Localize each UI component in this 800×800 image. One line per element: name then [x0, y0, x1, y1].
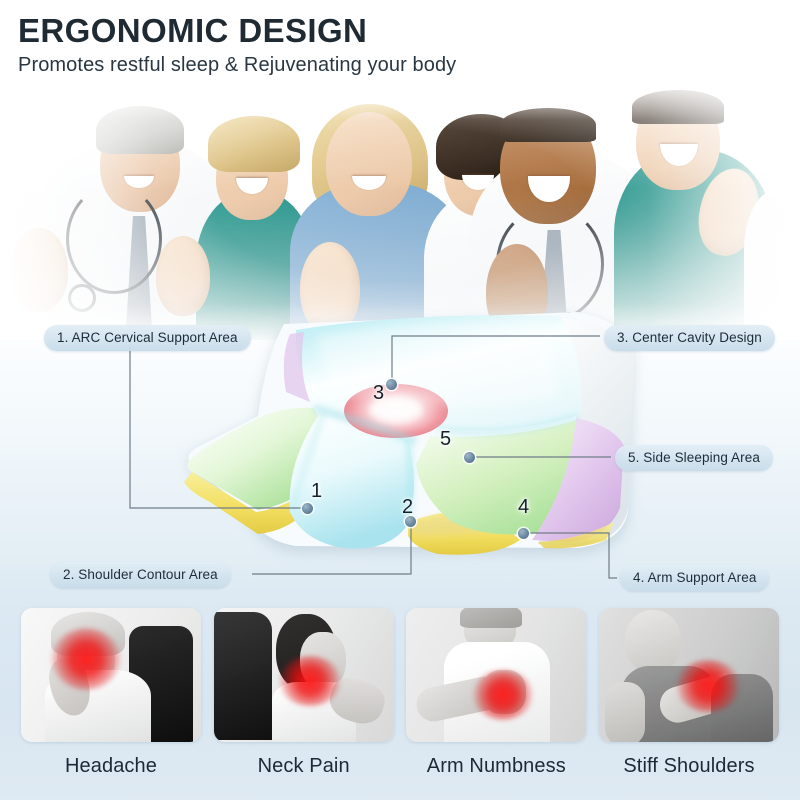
callout-marker-3[interactable]	[386, 379, 397, 390]
background-woman-hair	[208, 116, 300, 172]
symptom-photo-arm-numbness	[406, 608, 586, 742]
senior-doctor-hair	[96, 106, 184, 154]
callout-marker-4[interactable]	[518, 528, 529, 539]
blonde-nurse-face	[326, 112, 412, 216]
male-doctor-hair	[500, 108, 596, 142]
symptom-photo-neck-pain	[214, 608, 394, 742]
callout-marker-1[interactable]	[302, 503, 313, 514]
person-shoulder-right	[744, 190, 800, 340]
thumbs-up-hand-1	[10, 228, 68, 312]
callout-marker-5[interactable]	[464, 452, 475, 463]
pain-glow-neck	[278, 656, 342, 706]
symptom-card-arm-numbness[interactable]: Arm Numbness	[406, 608, 586, 800]
stethoscope-tube-left	[66, 184, 162, 294]
symptom-caption-stiff-shoulders: Stiff Shoulders	[599, 755, 779, 778]
infographic-page: ERGONOMIC DESIGN Promotes restful sleep …	[0, 0, 800, 800]
symptom-caption-headache: Headache	[21, 755, 201, 778]
stethoscope-bell-left	[68, 284, 96, 312]
symptom-card-stiff-shoulders[interactable]: Stiff Shoulders	[599, 608, 779, 800]
teal-scrubs-hair	[632, 90, 724, 124]
header: ERGONOMIC DESIGN Promotes restful sleep …	[18, 14, 456, 77]
callout-number-3: 3	[373, 382, 384, 405]
callout-label-4[interactable]: 4. Arm Support Area	[620, 565, 769, 591]
symptom-photo-headache	[21, 608, 201, 742]
symptom-card-neck-pain[interactable]: Neck Pain	[214, 608, 394, 800]
callout-label-2[interactable]: 2. Shoulder Contour Area	[50, 562, 231, 588]
callout-number-5: 5	[440, 428, 451, 451]
page-subtitle: Promotes restful sleep & Rejuvenating yo…	[18, 54, 456, 77]
callout-number-4: 4	[518, 496, 529, 519]
callout-number-2: 2	[402, 496, 413, 519]
pain-glow-forearm	[472, 670, 534, 720]
page-title: ERGONOMIC DESIGN	[18, 14, 456, 49]
symptom-caption-neck-pain: Neck Pain	[214, 755, 394, 778]
pain-glow-shoulder	[675, 660, 741, 712]
callout-label-1[interactable]: 1. ARC Cervical Support Area	[44, 325, 251, 351]
callout-label-3[interactable]: 3. Center Cavity Design	[604, 325, 775, 351]
symptom-card-list: Headache Neck Pain	[0, 608, 800, 800]
symptom-card-headache[interactable]: Headache	[21, 608, 201, 800]
callout-label-5[interactable]: 5. Side Sleeping Area	[615, 445, 773, 471]
symptom-photo-stiff-shoulders	[599, 608, 779, 742]
symptom-caption-arm-numbness: Arm Numbness	[406, 755, 586, 778]
pain-glow-head	[51, 628, 121, 690]
callout-number-1: 1	[311, 480, 322, 503]
